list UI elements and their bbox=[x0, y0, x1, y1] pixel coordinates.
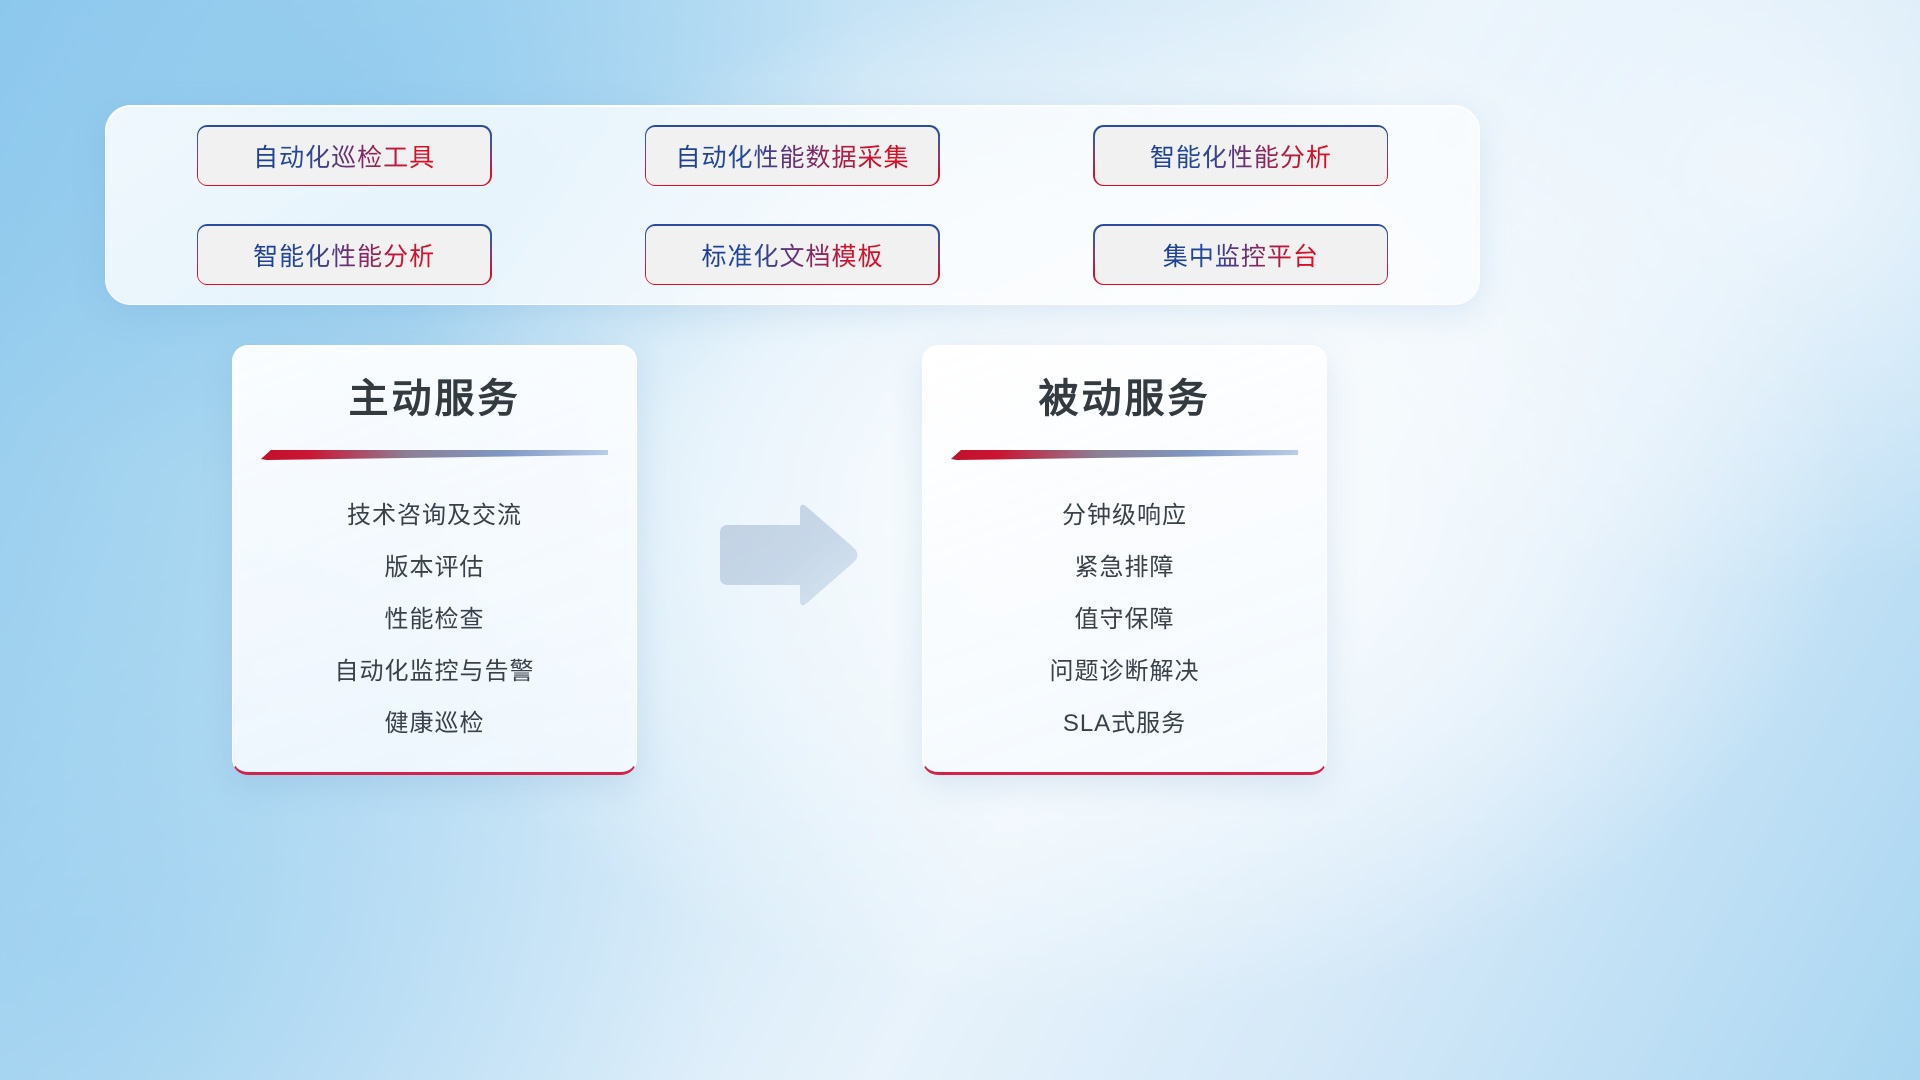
service-card-title: 主动服务 bbox=[259, 376, 610, 422]
capability-tag-2[interactable]: 自动化性能数据采集 bbox=[646, 127, 938, 185]
arrow-right-icon bbox=[712, 500, 862, 610]
capability-panel: 自动化巡检工具 自动化性能数据采集 智能化性能分析 智能化性能分析 标准化文档模… bbox=[105, 105, 1480, 305]
service-card-active: 主动服务 技术咨询及交流 版本评估 性能检查 自动化监控与告警 bbox=[232, 345, 637, 775]
service-card-passive: 被动服务 分钟级响应 紧急排障 值守保障 问题诊断解决 bbox=[922, 345, 1327, 775]
service-item-list: 分钟级响应 紧急排障 值守保障 问题诊断解决 SLA式服务 bbox=[949, 490, 1300, 750]
service-item: 技术咨询及交流 bbox=[259, 490, 610, 542]
capability-tag-label: 智能化性能分析 bbox=[1150, 138, 1332, 174]
title-underline bbox=[261, 448, 608, 462]
capability-tag-4[interactable]: 智能化性能分析 bbox=[198, 226, 490, 284]
service-item: 健康巡检 bbox=[259, 698, 610, 750]
title-underline bbox=[951, 448, 1298, 462]
capability-tag-6[interactable]: 集中监控平台 bbox=[1095, 226, 1387, 284]
service-item: 紧急排障 bbox=[949, 542, 1300, 594]
service-item: 版本评估 bbox=[259, 542, 610, 594]
capability-tag-label: 自动化巡检工具 bbox=[253, 138, 435, 174]
capability-tag-label: 集中监控平台 bbox=[1163, 237, 1319, 273]
capability-tag-3[interactable]: 智能化性能分析 bbox=[1095, 127, 1387, 185]
capability-tag-label: 标准化文档模板 bbox=[701, 237, 883, 273]
service-item: 分钟级响应 bbox=[949, 490, 1300, 542]
service-item: 性能检查 bbox=[259, 594, 610, 646]
capability-tag-label: 自动化性能数据采集 bbox=[675, 138, 909, 174]
service-item: SLA式服务 bbox=[949, 698, 1300, 750]
service-item: 问题诊断解决 bbox=[949, 646, 1300, 698]
capability-tag-label: 智能化性能分析 bbox=[253, 237, 435, 273]
service-card-title: 被动服务 bbox=[949, 376, 1300, 422]
capability-tag-5[interactable]: 标准化文档模板 bbox=[646, 226, 938, 284]
service-item: 值守保障 bbox=[949, 594, 1300, 646]
slide-canvas: 自动化巡检工具 自动化性能数据采集 智能化性能分析 智能化性能分析 标准化文档模… bbox=[0, 0, 1920, 1080]
service-item-list: 技术咨询及交流 版本评估 性能检查 自动化监控与告警 健康巡检 bbox=[259, 490, 610, 750]
service-item: 自动化监控与告警 bbox=[259, 646, 610, 698]
capability-tag-1[interactable]: 自动化巡检工具 bbox=[198, 127, 490, 185]
